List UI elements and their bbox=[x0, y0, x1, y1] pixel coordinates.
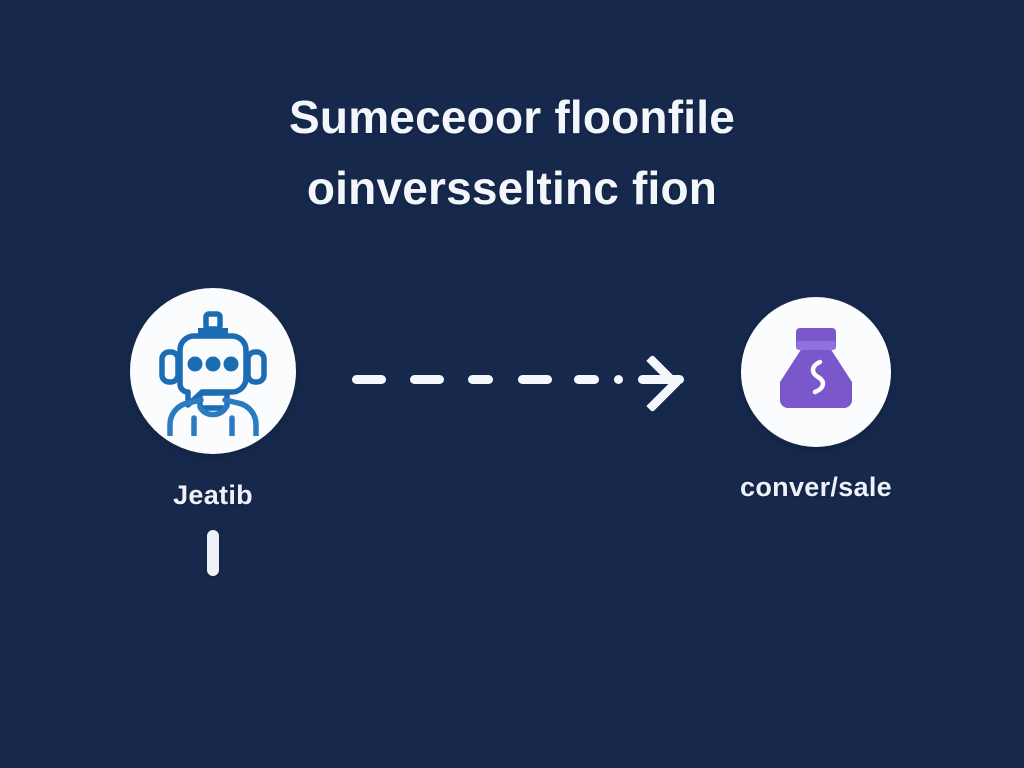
arrow-dot bbox=[614, 375, 623, 384]
title-line-1: Sumeceoor floonfile bbox=[0, 82, 1024, 153]
diagram-canvas: Sumeceoor floonfile oinversseltinc fion bbox=[0, 0, 1024, 768]
arrow-head-icon bbox=[624, 355, 682, 413]
chatbot-robot-icon bbox=[148, 306, 278, 436]
conversion-disc bbox=[741, 297, 891, 447]
dashed-arrow bbox=[352, 356, 674, 402]
flow-node-chatbot-label: Jeatib bbox=[130, 480, 296, 511]
money-bag-icon bbox=[764, 320, 868, 424]
arrow-dash-4 bbox=[518, 375, 552, 384]
flow-node-conversion[interactable]: conver/sale bbox=[738, 288, 891, 447]
page-title: Sumeceoor floonfile oinversseltinc fion bbox=[0, 82, 1024, 224]
flow-node-chatbot[interactable]: Jeatib bbox=[130, 288, 296, 454]
arrow-dash-5 bbox=[574, 375, 599, 384]
arrow-dash-2 bbox=[410, 375, 444, 384]
arrow-dash-1 bbox=[352, 375, 386, 384]
title-line-2: oinversseltinc fion bbox=[0, 153, 1024, 224]
chatbot-underbar bbox=[207, 530, 219, 576]
flow-diagram: Jeatib bbox=[0, 288, 1024, 468]
chatbot-disc bbox=[130, 288, 296, 454]
flow-node-conversion-label: conver/sale bbox=[726, 472, 906, 503]
arrow-dash-3 bbox=[468, 375, 493, 384]
